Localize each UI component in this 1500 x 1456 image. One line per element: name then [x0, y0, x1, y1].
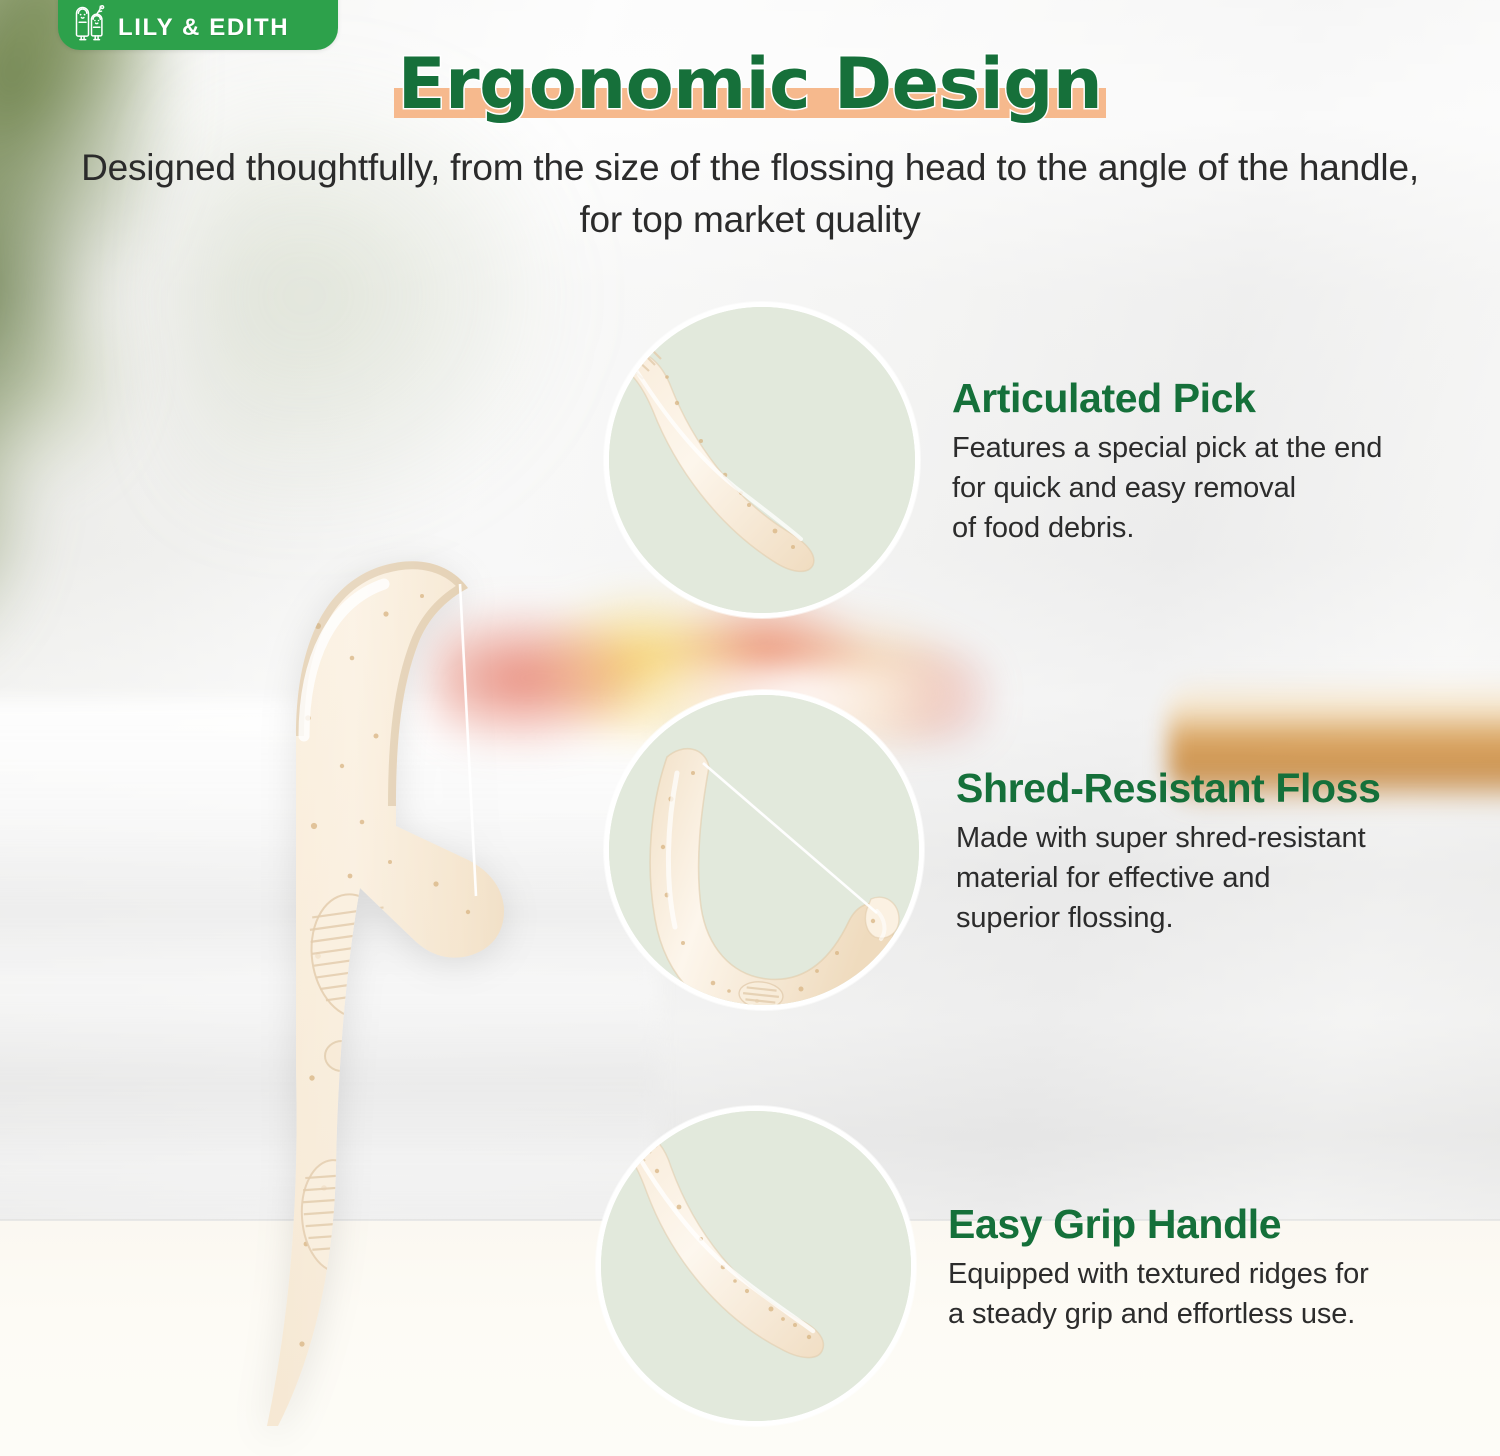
feature-description: Made with super shred-resistant material…	[956, 818, 1500, 938]
feature-description-line: Made with super shred-resistant	[956, 818, 1500, 858]
feature-image-easy-grip-handle	[596, 1106, 916, 1426]
feature-text-articulated-pick: Articulated Pick Features a special pick…	[920, 372, 1500, 548]
feature-description-line: Features a special pick at the end	[952, 428, 1500, 468]
feature-image-shred-resistant-floss	[604, 690, 924, 1010]
feature-shred-resistant-floss: Shred-Resistant Floss Made with super sh…	[0, 690, 1500, 1010]
feature-articulated-pick: Articulated Pick Features a special pick…	[0, 302, 1500, 618]
page-subtitle: Designed thoughtfully, from the size of …	[55, 142, 1445, 246]
header: Ergonomic Design Designed thoughtfully, …	[0, 38, 1500, 246]
feature-description-line: superior flossing.	[956, 898, 1500, 938]
feature-text-easy-grip-handle: Easy Grip Handle Equipped with textured …	[916, 1198, 1500, 1334]
feature-title: Shred-Resistant Floss	[956, 762, 1500, 814]
feature-description-line: for quick and easy removal	[952, 468, 1500, 508]
feature-description: Equipped with textured ridges for a stea…	[948, 1254, 1500, 1334]
feature-description-line: a steady grip and effortless use.	[948, 1294, 1500, 1334]
feature-text-shred-resistant-floss: Shred-Resistant Floss Made with super sh…	[924, 762, 1500, 938]
feature-title: Easy Grip Handle	[948, 1198, 1500, 1250]
two-girls-logo-icon	[72, 2, 108, 42]
infographic-canvas: LILY & EDITH Ergonomic Design Designed t…	[0, 0, 1500, 1456]
feature-title: Articulated Pick	[952, 372, 1500, 424]
feature-description-line: material for effective and	[956, 858, 1500, 898]
page-title-wrap: Ergonomic Design	[384, 38, 1116, 130]
feature-easy-grip-handle: Easy Grip Handle Equipped with textured …	[0, 1106, 1500, 1426]
feature-description-line: Equipped with textured ridges for	[948, 1254, 1500, 1294]
page-title: Ergonomic Design	[398, 38, 1102, 130]
feature-description: Features a special pick at the end for q…	[952, 428, 1500, 548]
feature-image-articulated-pick	[604, 302, 920, 618]
feature-description-line: of food debris.	[952, 508, 1500, 548]
